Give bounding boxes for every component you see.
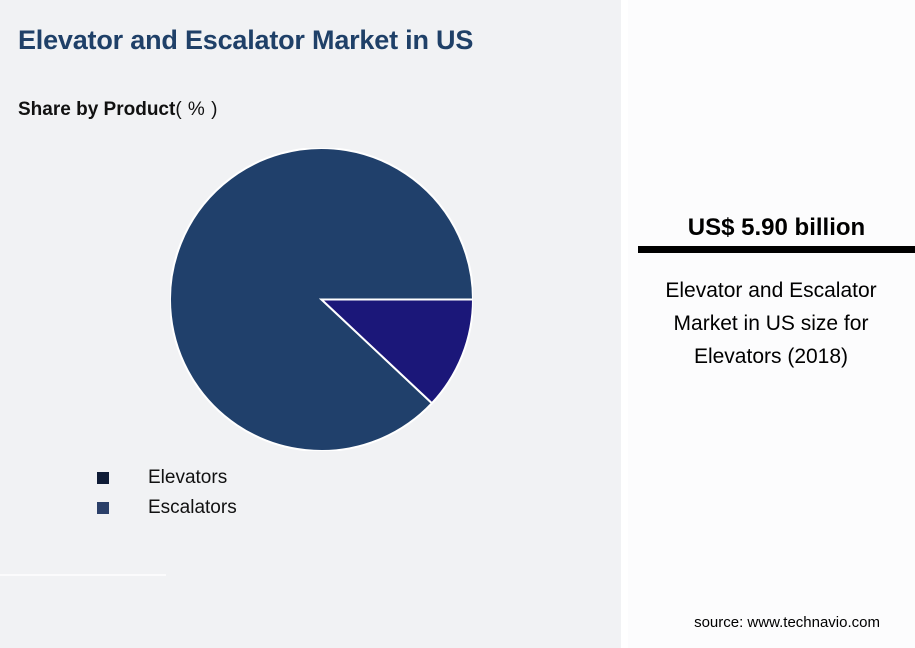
callout-description: Elevator and Escalator Market in US size… <box>642 274 900 373</box>
chart-subtitle: Share by Product( % ) <box>18 99 218 121</box>
bottom-divider <box>0 574 166 576</box>
chart-panel: Elevator and Escalator Market in US Shar… <box>0 0 621 648</box>
legend-label-elevators: Elevators <box>148 467 227 489</box>
source-note: source: www.technavio.com <box>694 614 880 631</box>
chart-subtitle-units: ( % ) <box>175 99 218 120</box>
legend-item-escalators[interactable]: Escalators <box>97 493 237 523</box>
legend-label-escalators: Escalators <box>148 497 237 519</box>
callout-value: US$ 5.90 billion <box>638 214 915 242</box>
chart-legend: Elevators Escalators <box>97 463 237 523</box>
legend-swatch-elevators <box>97 472 109 484</box>
pie-chart <box>170 148 473 451</box>
legend-swatch-escalators <box>97 502 109 514</box>
chart-subtitle-label: Share by Product <box>18 99 175 120</box>
pie-chart-svg <box>170 148 473 451</box>
legend-item-elevators[interactable]: Elevators <box>97 463 237 493</box>
callout-panel: US$ 5.90 billion Elevator and Escalator … <box>628 0 915 648</box>
page-title: Elevator and Escalator Market in US <box>18 25 578 56</box>
callout-divider <box>638 246 915 253</box>
chart-page: Elevator and Escalator Market in US Shar… <box>0 0 915 648</box>
